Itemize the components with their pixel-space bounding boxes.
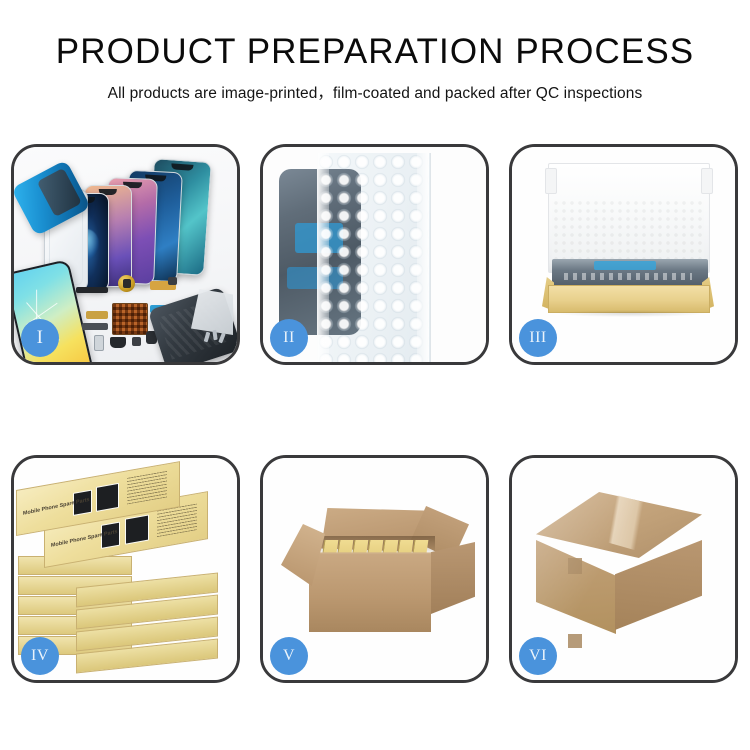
gold-flex-cable-part — [86, 311, 108, 319]
step-badge-6: VI — [519, 637, 557, 675]
carton-tab-upper — [568, 558, 582, 574]
step-badge-1: I — [21, 319, 59, 357]
button-part — [132, 337, 141, 346]
flex-cable-part — [150, 281, 176, 290]
box-front-wall — [548, 285, 710, 313]
sleeve-edge-right — [417, 153, 429, 362]
step-badge-2: II — [270, 319, 308, 357]
drop-shadow — [556, 310, 704, 317]
earpiece-speaker-part — [110, 337, 126, 348]
step-panel-6[interactable]: VI — [509, 455, 738, 683]
phone-notch — [171, 163, 194, 171]
carton-front-wall — [309, 554, 431, 632]
packed-units-row — [552, 259, 708, 287]
foam-liner — [552, 199, 704, 261]
step-badge-5: V — [270, 637, 308, 675]
step-panel-4[interactable]: Mobile Phone Spare Parts Mobile Phone Sp… — [11, 455, 240, 683]
page-subtitle: All products are image-printed，film-coat… — [0, 81, 750, 103]
header: PRODUCT PREPARATION PROCESS All products… — [0, 0, 750, 103]
sleeve-edge-left — [317, 153, 329, 362]
step-panel-2[interactable]: II — [260, 144, 489, 365]
step-badge-4: IV — [21, 637, 59, 675]
grey-flex-cable-part — [82, 323, 108, 330]
product-preparation-infographic: PRODUCT PREPARATION PROCESS All products… — [0, 0, 750, 750]
box-spec-lines — [127, 470, 167, 504]
bubble-texture — [317, 153, 429, 362]
sim-tray-part — [94, 335, 104, 351]
vibration-motor-part — [118, 275, 135, 292]
page-title: PRODUCT PREPARATION PROCESS — [0, 34, 750, 71]
connector-grid-part — [112, 303, 148, 335]
screws-group — [205, 330, 227, 344]
box-window-right — [96, 483, 119, 512]
step-badge-3: III — [519, 319, 557, 357]
step-panel-5[interactable]: V — [260, 455, 489, 683]
step-panel-3[interactable]: III — [509, 144, 738, 365]
speaker-strip-part — [76, 287, 108, 293]
step-panel-1[interactable]: I — [11, 144, 240, 365]
steps-grid: I II — [11, 144, 739, 684]
carton-tab-lower — [568, 634, 582, 648]
box-window-right — [125, 514, 149, 544]
